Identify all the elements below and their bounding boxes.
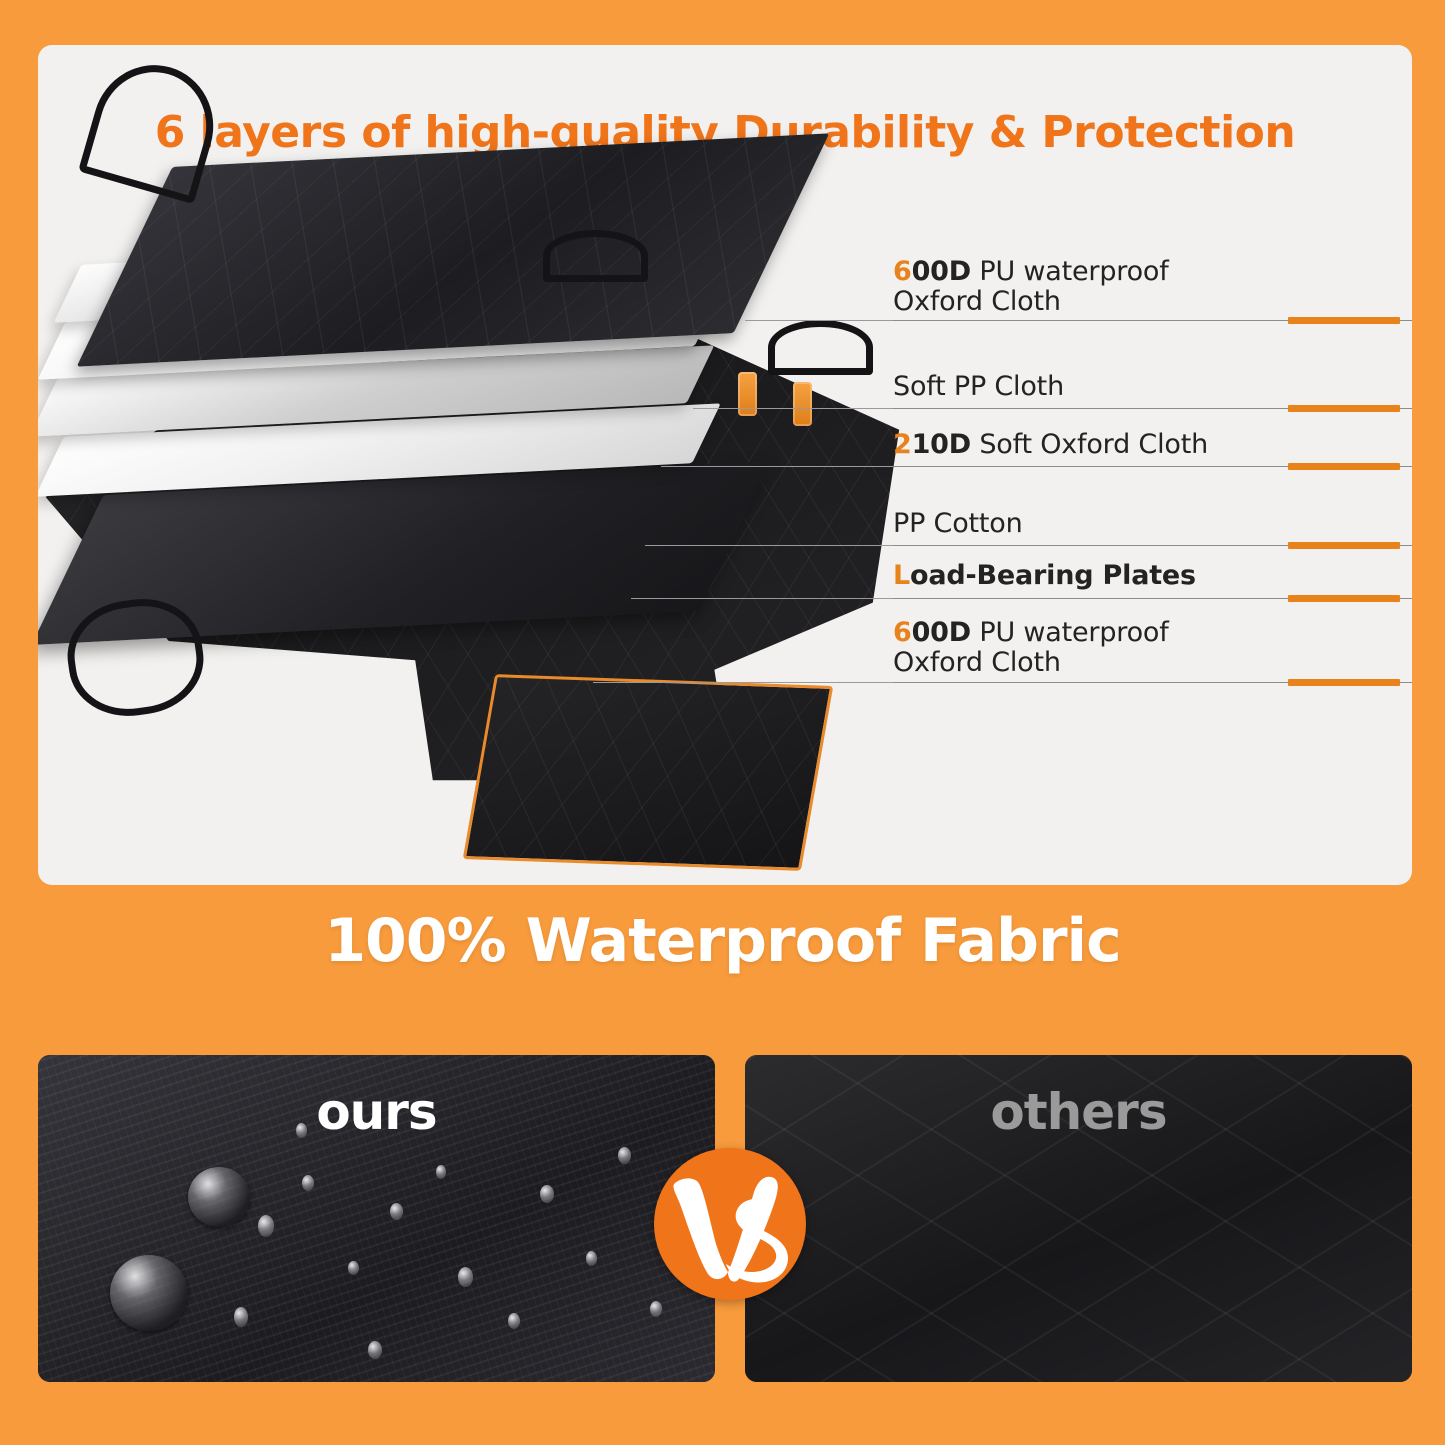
layer-label-list: 600D PU waterproofOxford Cloth Soft PP C… (893, 45, 1412, 885)
layer-leader-2 (693, 408, 893, 409)
layer-leader-3 (661, 466, 893, 467)
layer-leader-6 (593, 682, 893, 683)
cover-front-flap (463, 674, 834, 871)
buckle-clip-right (793, 382, 812, 426)
layer-label-3-text: 210D Soft Oxford Cloth (893, 430, 1412, 460)
water-droplet (458, 1267, 473, 1287)
water-droplet (586, 1251, 597, 1266)
buckle-clip-left (738, 372, 757, 416)
water-droplet (618, 1147, 631, 1164)
water-bead (110, 1255, 188, 1331)
vs-badge (654, 1148, 806, 1300)
layers-panel: 6 layers of high-quality Durability & Pr… (38, 45, 1412, 885)
comparison-panel-others: others (745, 1055, 1412, 1382)
vs-badge-icon (654, 1148, 806, 1300)
waterproof-headline: 100% Waterproof Fabric (0, 906, 1445, 976)
layer-rule-6 (893, 682, 1412, 683)
layer-label-2: Soft PP Cloth (893, 372, 1412, 402)
layer-leader-5 (631, 598, 893, 599)
layer-label-3: 210D Soft Oxford Cloth (893, 430, 1412, 460)
layer-label-1: 600D PU waterproofOxford Cloth (893, 257, 1412, 317)
layer-leader-1 (745, 320, 893, 321)
quilt-pattern-flap (466, 677, 830, 868)
layer-label-4: PP Cotton (893, 509, 1412, 539)
product-illustration (38, 140, 938, 885)
layer-rule-5 (893, 598, 1412, 599)
layer-label-2-text: Soft PP Cloth (893, 372, 1412, 402)
strap-top-middle (543, 230, 648, 282)
comparison-label-ours: ours (38, 1083, 715, 1141)
water-droplet (508, 1313, 520, 1329)
water-droplet (650, 1301, 662, 1317)
comparison-panel-ours: ours (38, 1055, 715, 1382)
layer-label-6-text: 600D PU waterproofOxford Cloth (893, 618, 1412, 678)
strap-top-right (768, 320, 873, 375)
water-bead (188, 1167, 250, 1227)
water-droplet (390, 1203, 403, 1220)
layer-label-5: Load-Bearing Plates (893, 561, 1412, 591)
layer-label-5-text: Load-Bearing Plates (893, 561, 1412, 591)
layer-rule-3 (893, 466, 1412, 467)
layer-leader-4 (645, 545, 893, 546)
water-droplet (234, 1307, 248, 1327)
water-droplet (368, 1341, 382, 1359)
layer-label-4-text: PP Cotton (893, 509, 1412, 539)
water-droplet (348, 1261, 359, 1275)
comparison-label-others: others (745, 1083, 1412, 1141)
water-droplet (436, 1165, 446, 1179)
layer-rule-4 (893, 545, 1412, 546)
layer-rule-1 (893, 320, 1412, 321)
layer-label-1-text: 600D PU waterproofOxford Cloth (893, 257, 1412, 317)
water-droplet (258, 1215, 274, 1237)
layer-label-6: 600D PU waterproofOxford Cloth (893, 618, 1412, 678)
water-droplet (540, 1185, 554, 1203)
layer-rule-2 (893, 408, 1412, 409)
water-droplet (302, 1175, 314, 1191)
